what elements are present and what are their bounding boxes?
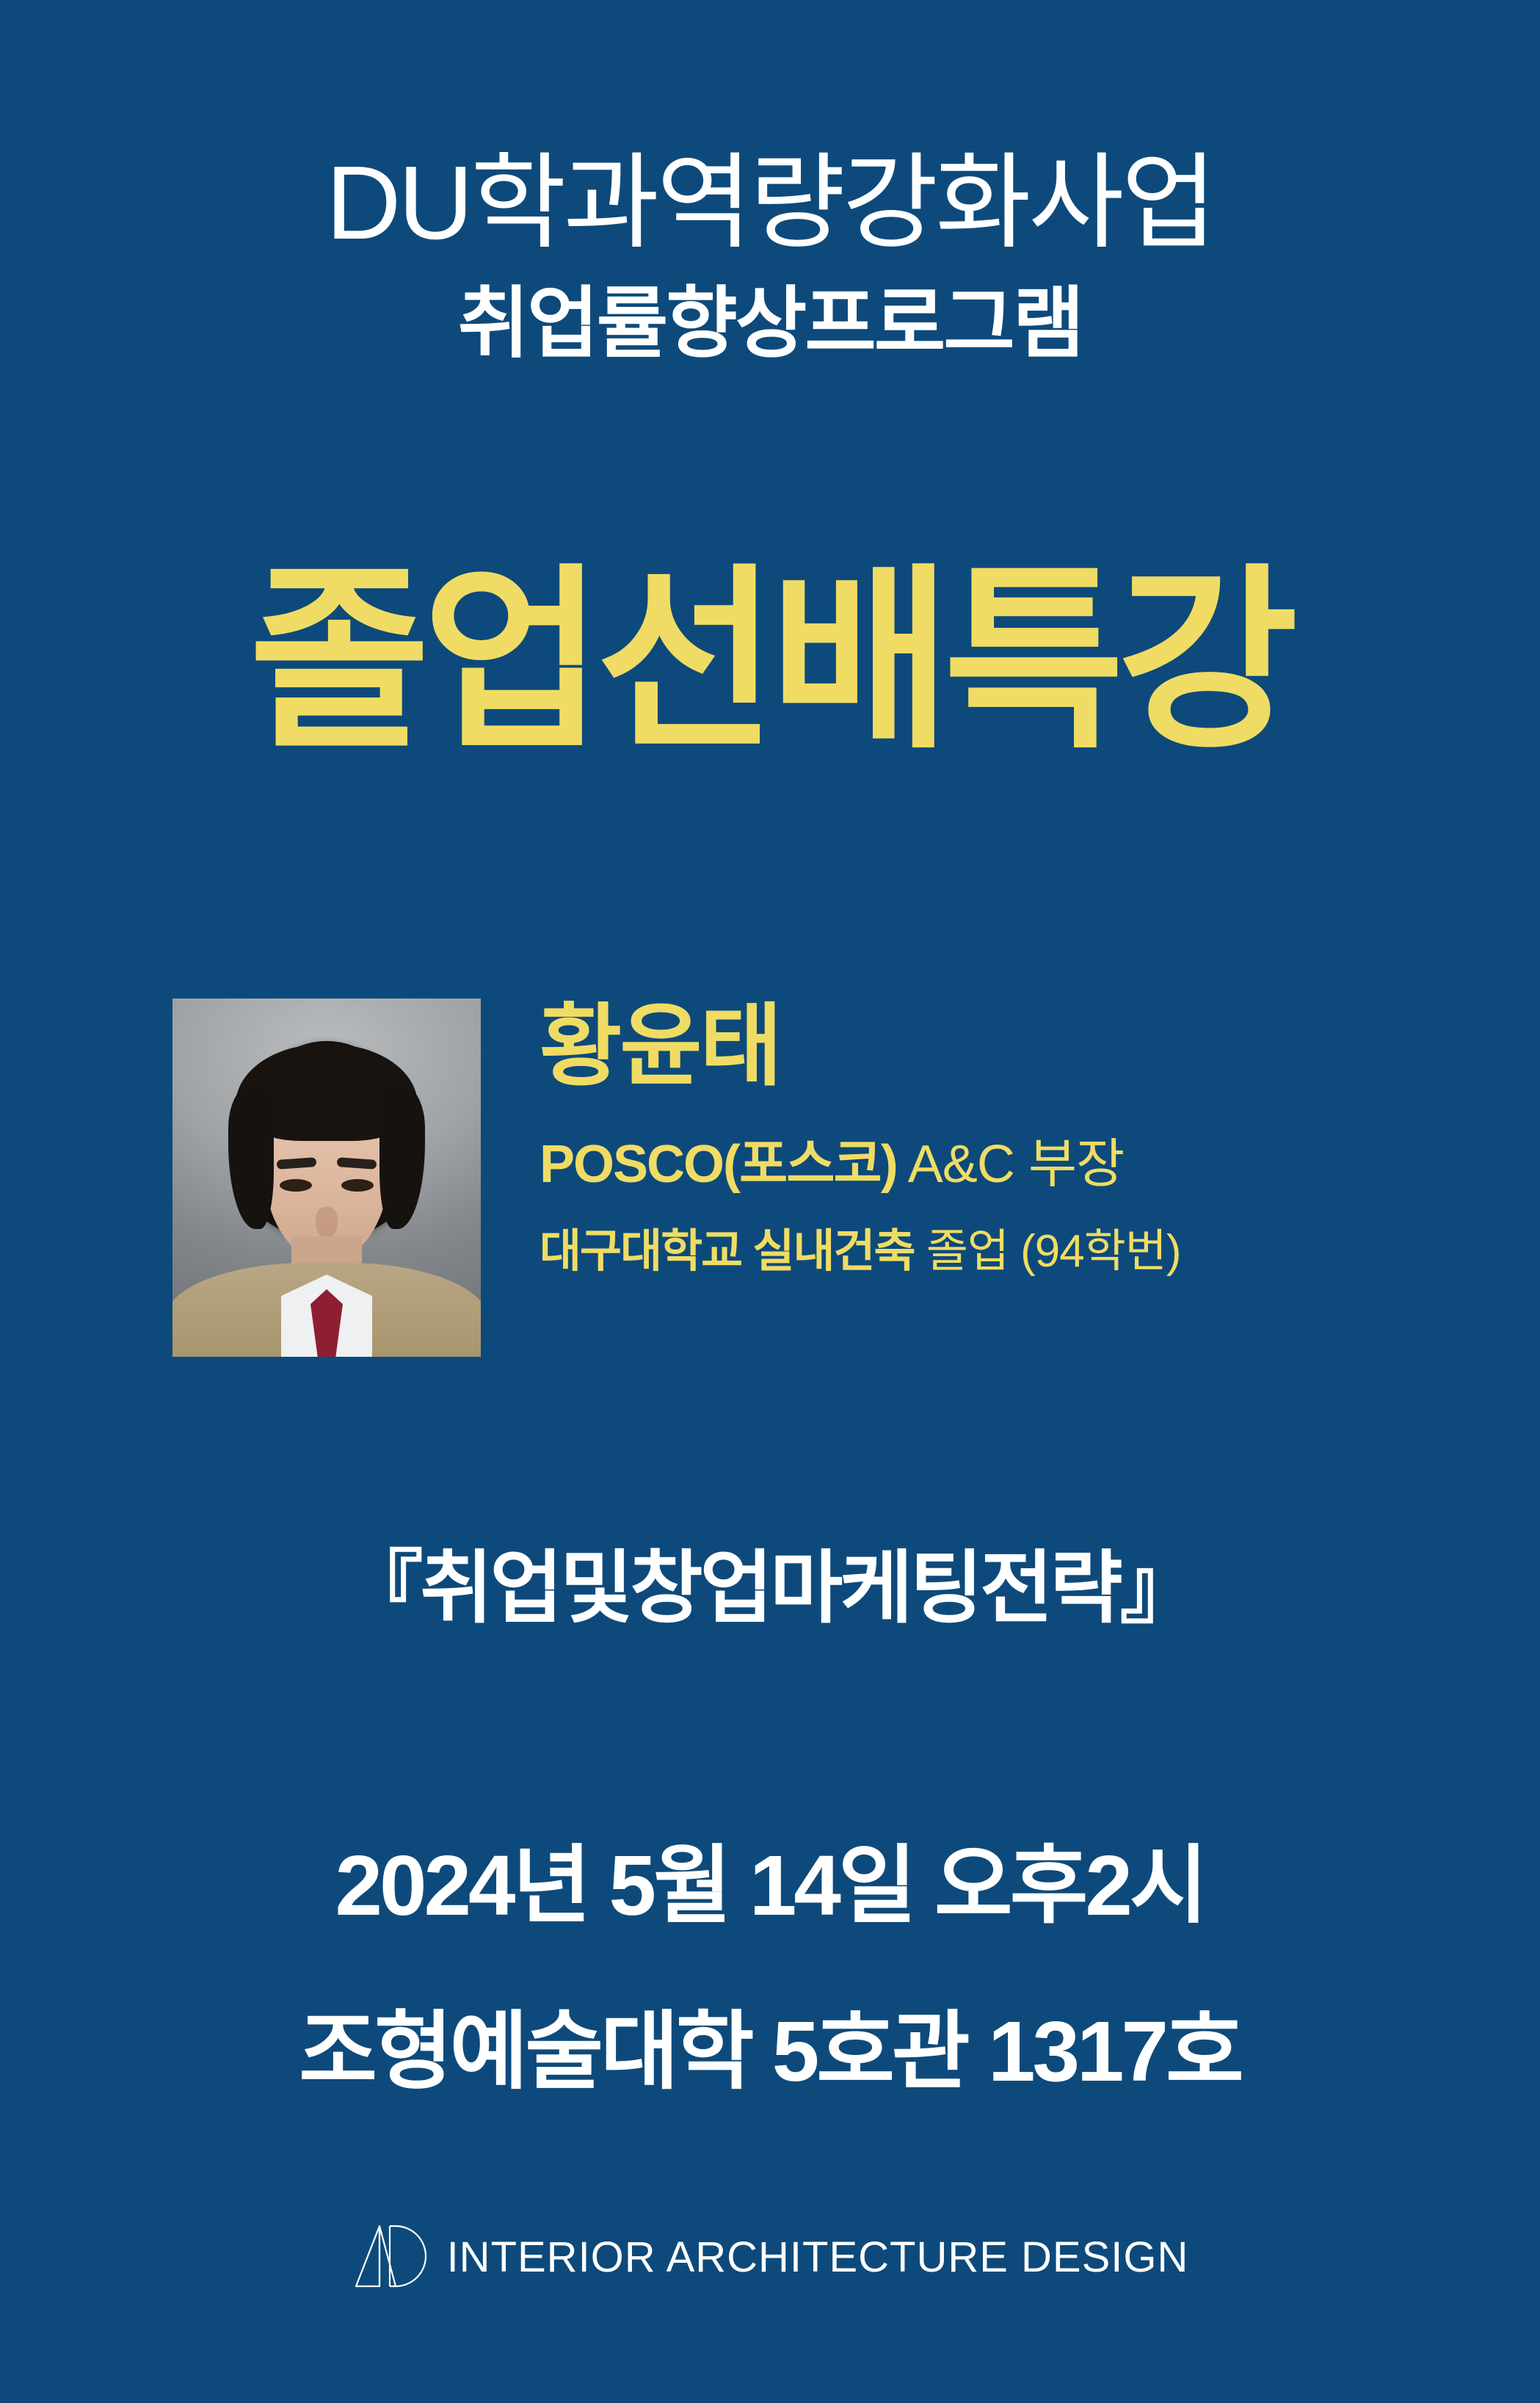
header-block: DU학과역량강화사업 취업률향상프로그램 [0,147,1540,367]
speaker-role: POSCO(포스코) A&C 부장 [540,1138,1391,1191]
event-location: 조형예술대학 5호관 1317호 [0,1982,1540,2106]
page-title: 졸업선배특강 [0,558,1540,764]
portrait-eye-right [341,1179,374,1192]
portrait-hair-right [379,1085,425,1229]
speaker-graduation-year: 졸업 (94학번) [915,1226,1181,1277]
department-name: INTERIOR ARCHITECTURE DESIGN [447,2233,1189,2282]
speaker-block: 황윤태 POSCO(포스코) A&C 부장 대구대학교 실내건축 졸업 (94학… [172,998,1391,1366]
speaker-company: POSCO(포스코) [540,1135,897,1194]
program-series-title: DU학과역량강화사업 [0,147,1540,259]
poster-root: DU학과역량강화사업 취업률향상프로그램 졸업선배특강 황윤태 POSC [0,0,1540,2403]
footer: INTERIOR ARCHITECTURE DESIGN [0,2222,1540,2292]
portrait-nose [316,1207,338,1238]
speaker-photo [172,998,481,1357]
event-datetime: 2024년 5월 14일 오후2시 [0,1816,1540,1940]
program-subtitle: 취업률향상프로그램 [0,281,1540,367]
lecture-topic: 『취업및창업마케팅전략』 [0,1524,1540,1639]
speaker-position: A&C 부장 [897,1135,1125,1194]
speaker-name: 황윤태 [540,1001,1391,1091]
ad-monogram-icon [352,2222,428,2292]
speaker-education: 대구대학교 실내건축 졸업 (94학번) [540,1229,1391,1275]
portrait-hair-left [228,1085,274,1229]
speaker-school-major: 대구대학교 실내건축 [540,1226,915,1277]
speaker-info: 황윤태 POSCO(포스코) A&C 부장 대구대학교 실내건축 졸업 (94학… [540,998,1391,1275]
portrait-eye-left [280,1179,312,1192]
